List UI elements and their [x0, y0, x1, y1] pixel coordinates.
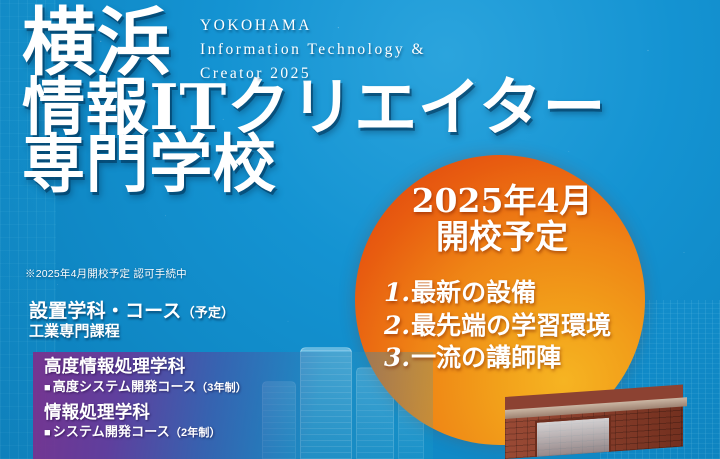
departments-heading-title: 設置学科・コース: [29, 301, 182, 322]
english-subtitle-line-3: Creator 2025: [200, 62, 426, 86]
brick-building-photo: [505, 385, 683, 459]
course-item-duration: （2年制）: [170, 427, 221, 439]
opening-date-year: 2025年4月: [412, 181, 593, 220]
course-item-name: 高度システム開発コース: [53, 379, 196, 394]
departments-heading-suffix: （予定）: [182, 305, 235, 320]
approval-note: ※2025年4月開校予定 認可手続中: [25, 266, 187, 281]
selling-point: 1.最新の設備: [384, 277, 644, 310]
poster-canvas: 横浜 情報ITクリエイター 専門学校 YOKOHAMA Information …: [0, 0, 720, 459]
departments-heading: 設置学科・コース（予定）: [29, 296, 234, 323]
square-bullet-icon: ■: [44, 382, 51, 394]
selling-point: 3.一流の講師陣: [384, 342, 644, 375]
course-item-duration: （3年制）: [196, 382, 247, 394]
selling-point-number: 3.: [384, 343, 410, 372]
selling-point-text: 一流の講師陣: [411, 343, 561, 372]
selling-point-text: 最先端の学習環境: [411, 311, 611, 340]
selling-point-text: 最新の設備: [411, 278, 536, 307]
course-item: ■システム開発コース（2年制）: [44, 423, 444, 442]
english-subtitle-line-2: Information Technology &: [200, 38, 426, 62]
course-item: ■高度システム開発コース（3年制）: [44, 378, 444, 397]
opening-date-label: 開校予定: [392, 219, 612, 255]
course-group: 情報処理学科 ■システム開発コース（2年制）: [44, 402, 444, 443]
selling-point-number: 1.: [384, 278, 410, 307]
selling-points-list: 1.最新の設備 2.最先端の学習環境 3.一流の講師陣: [384, 277, 644, 375]
selling-point: 2.最先端の学習環境: [384, 310, 644, 343]
departments-subheading: 工業専門課程: [29, 320, 120, 341]
english-subtitle-line-1: YOKOHAMA: [200, 14, 426, 38]
english-subtitle: YOKOHAMA Information Technology & Creato…: [200, 14, 426, 86]
course-item-name: システム開発コース: [53, 424, 170, 439]
opening-date-heading: 2025年4月 開校予定: [392, 183, 612, 256]
selling-point-number: 2.: [384, 311, 410, 340]
square-bullet-icon: ■: [44, 427, 51, 439]
course-department-name: 情報処理学科: [44, 402, 444, 423]
